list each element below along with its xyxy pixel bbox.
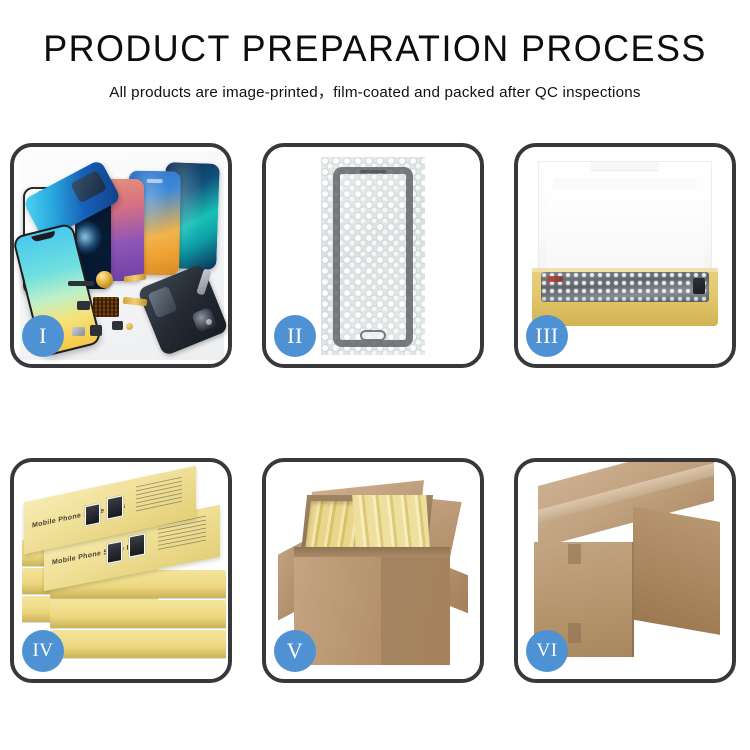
connector-icon bbox=[112, 321, 123, 330]
process-step-4: Mobile Phone Spare Parts Mobile Phone Sp… bbox=[10, 458, 232, 683]
process-step-1: I bbox=[10, 143, 232, 368]
process-step-6: VI bbox=[514, 458, 736, 683]
box-thumb-lower-b bbox=[128, 532, 146, 558]
box-thumb-top-a bbox=[84, 502, 101, 528]
part-bar-icon bbox=[68, 281, 94, 286]
page-subtitle: All products are image-printed，film-coat… bbox=[0, 80, 750, 102]
step-2-numeral-badge: II bbox=[274, 315, 316, 357]
carton-front-seam-icon bbox=[632, 542, 634, 657]
screw-a-icon bbox=[126, 323, 133, 330]
packed-boxes-row-2 bbox=[352, 495, 430, 547]
mailer-tray-icon bbox=[532, 268, 718, 326]
step-4-numeral-badge: IV bbox=[22, 630, 64, 672]
process-step-grid: I II III bbox=[10, 143, 740, 683]
chip-array-icon bbox=[93, 297, 119, 317]
stack-box-2 bbox=[50, 600, 226, 628]
process-step-5: V bbox=[262, 458, 484, 683]
step-1-numeral-badge: I bbox=[22, 315, 64, 357]
box-spec-lines-top bbox=[136, 477, 182, 513]
open-mailer-box bbox=[532, 161, 718, 336]
process-step-3: III bbox=[514, 143, 736, 368]
page-header: PRODUCT PREPARATION PROCESS All products… bbox=[0, 0, 750, 102]
wrapped-screen-outline bbox=[333, 167, 413, 347]
wrapped-screen-in-tray-icon bbox=[541, 272, 709, 302]
carton-flap-mark-bottom-icon bbox=[568, 623, 581, 643]
carton-flap-mark-top-icon bbox=[568, 544, 581, 564]
speaker-part-icon bbox=[96, 271, 113, 288]
camera-module-icon bbox=[77, 301, 90, 310]
box-thumb-lower-a bbox=[106, 540, 123, 565]
carton-side-face-icon bbox=[633, 507, 720, 635]
carton-body-icon bbox=[294, 557, 450, 665]
sim-tray-icon bbox=[72, 327, 85, 336]
bubble-wrap-photo bbox=[321, 157, 425, 355]
vibrator-icon bbox=[90, 325, 102, 336]
foam-sheet-icon bbox=[546, 189, 704, 275]
home-button-icon bbox=[360, 330, 386, 341]
process-step-2: II bbox=[262, 143, 484, 368]
step-6-numeral-badge: VI bbox=[526, 630, 568, 672]
page-title: PRODUCT PREPARATION PROCESS bbox=[11, 30, 739, 67]
screw-b-icon bbox=[206, 319, 212, 325]
sealed-shipping-carton bbox=[534, 486, 720, 657]
carton-top-tape-icon bbox=[538, 463, 714, 523]
stack-box-1 bbox=[50, 630, 226, 658]
step-5-numeral-badge: V bbox=[274, 630, 316, 672]
step-3-numeral-badge: III bbox=[526, 315, 568, 357]
box-thumb-top-b bbox=[106, 494, 124, 521]
carton-front-rim-icon bbox=[294, 547, 450, 557]
